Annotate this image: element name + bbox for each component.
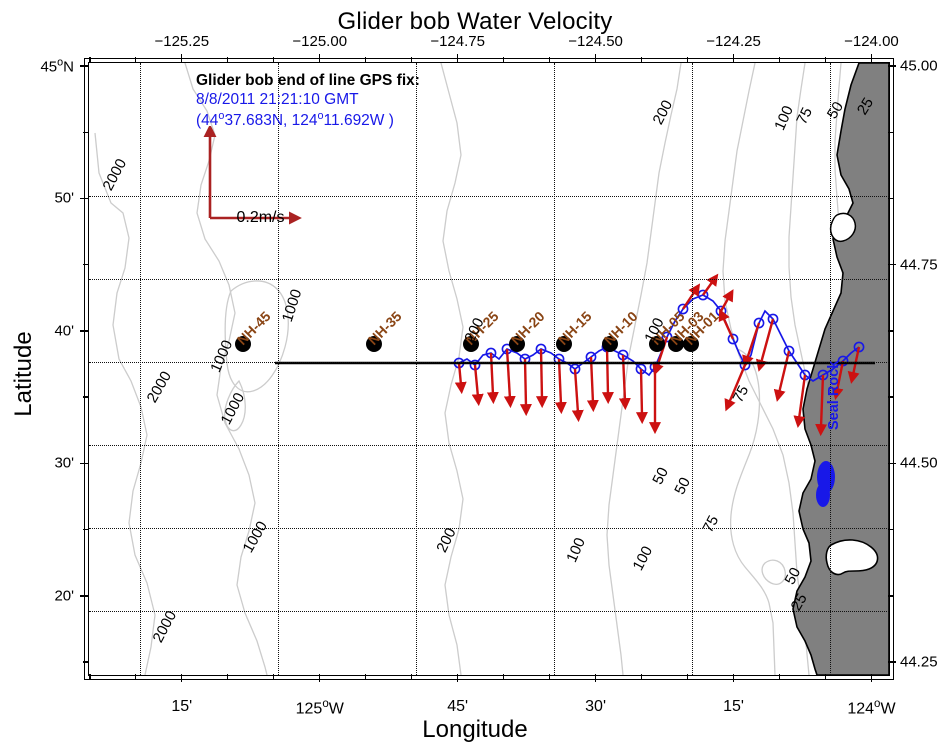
right-minor-tick	[888, 463, 893, 464]
right-minor-tick	[888, 330, 893, 331]
right-minor-tick	[888, 529, 893, 530]
right-tick-label: 44.25	[900, 654, 938, 671]
right-minor-tick	[888, 661, 893, 662]
right-tick-label: 44.75	[900, 256, 938, 273]
water-velocity-map-figure: Glider bob Water Velocity Longitude Lati…	[0, 0, 950, 748]
right-minor-tick	[888, 65, 893, 66]
right-minor-tick	[888, 396, 893, 397]
right-minor-tick	[888, 264, 893, 265]
right-minor-tick	[888, 198, 893, 199]
right-tick-label: 45.00	[900, 57, 938, 74]
right-axis: 45.0044.7544.5044.25	[0, 0, 950, 748]
right-minor-tick	[888, 132, 893, 133]
right-minor-tick	[888, 595, 893, 596]
right-tick-label: 44.50	[900, 455, 938, 472]
